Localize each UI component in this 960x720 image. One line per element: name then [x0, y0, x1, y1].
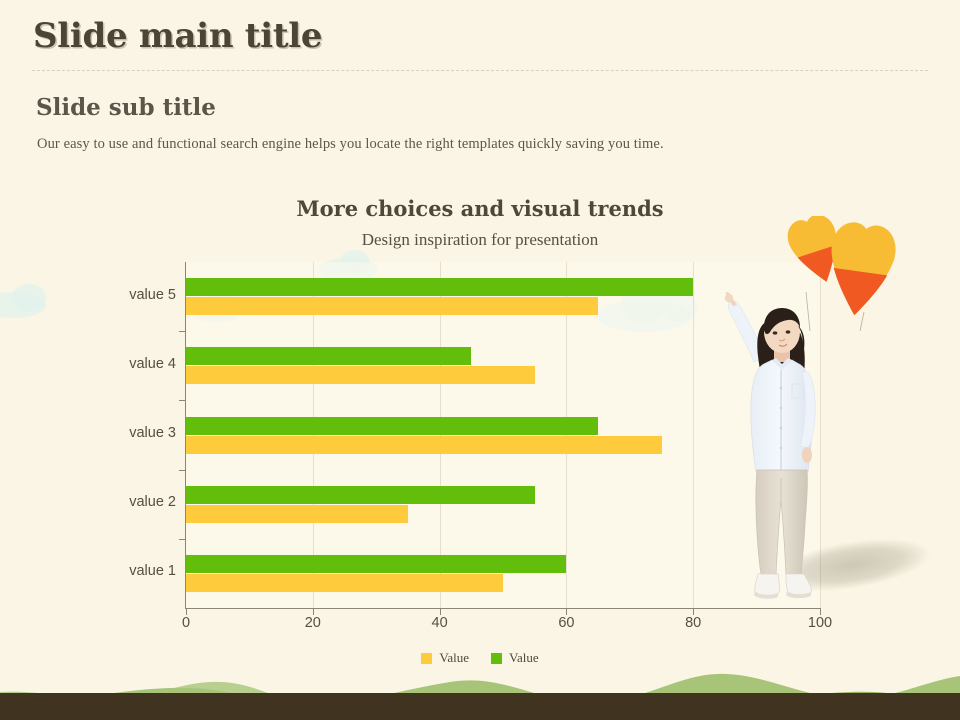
chart-bar: [186, 366, 535, 384]
y-axis-category-label: value 3: [110, 425, 176, 441]
chart-bar: [186, 574, 503, 592]
page-title: Slide main title: [33, 16, 322, 56]
x-axis-tick-label: 100: [808, 615, 832, 631]
y-axis-tick: [179, 470, 185, 471]
ground-strip-decoration: [0, 693, 960, 720]
x-axis-tick-label: 40: [432, 615, 448, 631]
y-axis-category-label: value 5: [110, 287, 176, 303]
slide-canvas: Slide main title Slide sub title Our eas…: [0, 0, 960, 720]
y-axis-category-label: value 1: [110, 563, 176, 579]
cloud-decoration: [12, 284, 46, 312]
chart-bar: [186, 417, 598, 435]
y-axis-tick: [179, 539, 185, 540]
sub-description: Our easy to use and functional search en…: [37, 136, 664, 153]
sub-title: Slide sub title: [36, 94, 216, 121]
chart-bar: [186, 436, 662, 454]
chart-bar: [186, 555, 566, 573]
title-divider: [32, 70, 928, 71]
chart-gridline: [693, 262, 694, 608]
chart-bar: [186, 347, 471, 365]
chart-bar: [186, 486, 535, 504]
x-axis-tick-label: 60: [558, 615, 574, 631]
x-axis-tick-label: 20: [305, 615, 321, 631]
y-axis-tick: [179, 400, 185, 401]
chart-bar: [186, 297, 598, 315]
x-axis-tick-label: 80: [685, 615, 701, 631]
girl-pointing-photo: [722, 292, 852, 610]
y-axis-tick: [179, 331, 185, 332]
y-axis-category-label: value 4: [110, 356, 176, 372]
x-axis-tick-label: 0: [182, 615, 190, 631]
chart-bar: [186, 505, 408, 523]
chart-bar: [186, 278, 693, 296]
y-axis-category-label: value 2: [110, 494, 176, 510]
